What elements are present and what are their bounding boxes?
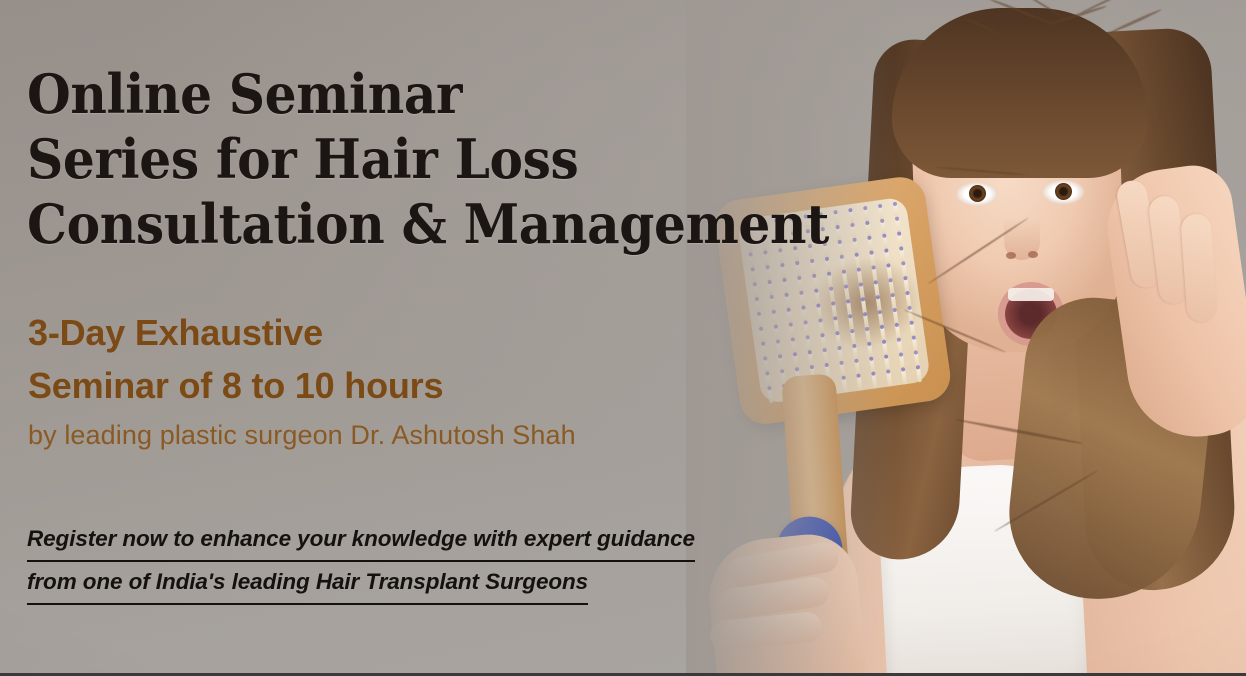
- call-to-action[interactable]: Register now to enhance your knowledge w…: [27, 521, 817, 605]
- seminar-promo-banner: Online Seminar Series for Hair Loss Cons…: [0, 0, 1246, 676]
- banner-copy: Online Seminar Series for Hair Loss Cons…: [0, 0, 760, 676]
- cta-line-2[interactable]: from one of India's leading Hair Transpl…: [27, 564, 588, 605]
- speaker-byline: by leading plastic surgeon Dr. Ashutosh …: [28, 418, 576, 452]
- model-eye-right: [1042, 180, 1084, 204]
- subheading-line-2: Seminar of 8 to 10 hours: [28, 359, 728, 412]
- headline-line-2: Series for Hair Loss: [27, 127, 678, 192]
- subheading: 3-Day Exhaustive Seminar of 8 to 10 hour…: [28, 306, 728, 412]
- headline-line-1: Online Seminar: [27, 62, 678, 127]
- model-teeth: [1008, 288, 1054, 301]
- model-nostril-right: [1028, 251, 1038, 258]
- subheading-line-1: 3-Day Exhaustive: [28, 306, 728, 359]
- model-nostril-left: [1006, 252, 1016, 259]
- headline: Online Seminar Series for Hair Loss Cons…: [27, 62, 678, 257]
- cta-line-1[interactable]: Register now to enhance your knowledge w…: [27, 521, 695, 562]
- headline-line-3: Consultation & Management: [27, 192, 678, 257]
